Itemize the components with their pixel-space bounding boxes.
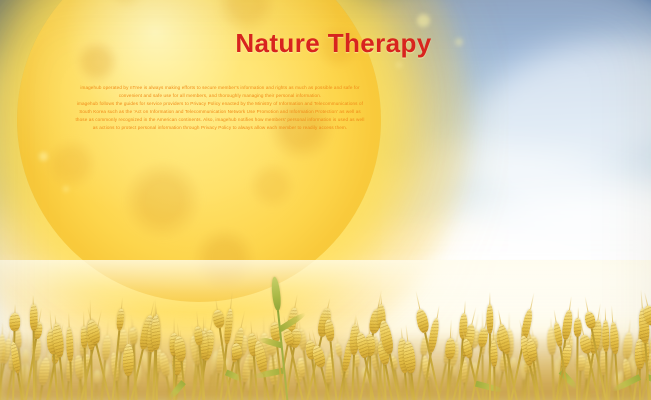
wheat-awn <box>416 291 421 309</box>
wheat-ear <box>526 338 538 362</box>
wheat-ear <box>462 338 474 359</box>
wheat-ear <box>445 338 456 360</box>
paragraph-line: imagehub operated by nTree is always mak… <box>40 84 400 92</box>
wheat-stem <box>533 361 541 400</box>
wheat-stem <box>0 369 1 400</box>
bokeh-dot <box>63 186 69 192</box>
wheat-field <box>0 260 651 400</box>
wheat-ear <box>324 319 335 342</box>
paragraph-line: imagehub follows the guides for service … <box>40 100 400 108</box>
wheat-awn <box>68 313 70 328</box>
sprig-ear <box>270 276 282 311</box>
wheat-awn <box>553 309 556 322</box>
wheat-stem <box>90 350 92 400</box>
wheat-stem <box>237 359 244 400</box>
wheat-ear <box>29 304 37 331</box>
page-title: Nature Therapy <box>0 28 651 59</box>
wheat-awn <box>55 314 57 323</box>
wheat-stem <box>338 372 346 400</box>
wheat-awn <box>154 299 155 316</box>
paragraph-line: South Korea such as the 'Act on Informat… <box>40 108 400 116</box>
wheat-awn <box>215 298 218 310</box>
wheat-stalk <box>63 327 78 400</box>
wheat-awn <box>132 319 133 328</box>
wheat-awn <box>380 295 381 304</box>
paragraph-line: as actions to protect personal informati… <box>40 124 400 132</box>
wheat-awn <box>121 298 123 309</box>
paragraph-line: those as commonly recognized in the Amer… <box>40 116 400 124</box>
wheat-ear <box>584 311 597 329</box>
wheat-awn <box>585 296 589 312</box>
wheat-awn <box>230 291 233 309</box>
wheat-stem <box>577 337 579 400</box>
wheat-ear <box>0 334 5 364</box>
wheat-awn <box>196 311 198 327</box>
wheat-awn <box>436 306 439 319</box>
wheat-awn <box>611 305 613 322</box>
wheat-awn <box>644 292 648 306</box>
bokeh-dot <box>39 152 48 161</box>
bokeh-dot <box>396 62 402 68</box>
wheat-awn <box>605 307 606 321</box>
wheat-awn <box>400 327 402 338</box>
field-haze <box>0 260 651 312</box>
wheat-stalk <box>122 343 135 400</box>
wheat-stem <box>70 363 73 400</box>
wheat-stem <box>199 345 206 400</box>
wheat-stem <box>33 330 35 400</box>
wheat-ear <box>231 343 243 360</box>
wheat-stalk <box>27 304 39 400</box>
wheat-stem <box>494 367 496 400</box>
wheat-awn <box>569 297 572 311</box>
wheat-stem <box>18 373 24 400</box>
wheat-awn <box>98 309 103 326</box>
wheat-awn <box>156 306 157 314</box>
wheat-stem <box>263 374 270 400</box>
wheat-stem <box>155 350 157 400</box>
wheat-ear <box>116 308 125 331</box>
wheat-ear <box>415 308 431 334</box>
wheat-awn <box>489 292 490 304</box>
wheat-ear <box>123 344 135 377</box>
wheat-awn <box>204 318 207 329</box>
wheat-ear <box>552 322 563 348</box>
wheat-awn <box>327 297 330 308</box>
wheat-stem <box>111 331 120 400</box>
wheat-ear <box>129 328 137 345</box>
wheat-awn <box>629 319 631 333</box>
wheat-awn <box>529 292 534 309</box>
paragraph-line: convenient and safe use for all members,… <box>40 92 400 100</box>
wheat-awn <box>33 295 34 304</box>
wheat-ear <box>609 322 619 355</box>
wheat-stem <box>645 342 651 400</box>
wheat-awn <box>482 310 483 327</box>
wheat-stem <box>127 376 129 400</box>
wheat-awn <box>508 312 509 329</box>
wheat-awn <box>463 300 465 313</box>
wheat-awn <box>107 318 109 335</box>
wheat-awn <box>174 318 175 334</box>
wheat-awn <box>1 322 2 335</box>
privacy-policy-paragraph: imagehub operated by nTree is always mak… <box>40 84 400 133</box>
wheat-awn <box>250 320 252 333</box>
bokeh-dot <box>417 14 430 27</box>
wheat-stem <box>614 354 619 400</box>
wheat-ear <box>194 326 204 346</box>
wheat-ear <box>211 309 224 329</box>
wheat-stalk <box>149 316 163 400</box>
wheat-stem <box>411 372 416 400</box>
wheat-ear <box>173 336 187 362</box>
wheat-ear <box>151 316 160 350</box>
wheat-awn <box>264 315 265 333</box>
wheat-ear <box>9 313 20 331</box>
wheat-ear <box>65 327 73 362</box>
nature-therapy-banner: Nature Therapy imagehub operated by nTre… <box>0 0 651 400</box>
cloud-shape <box>470 40 651 240</box>
wheat-awn <box>294 295 298 308</box>
